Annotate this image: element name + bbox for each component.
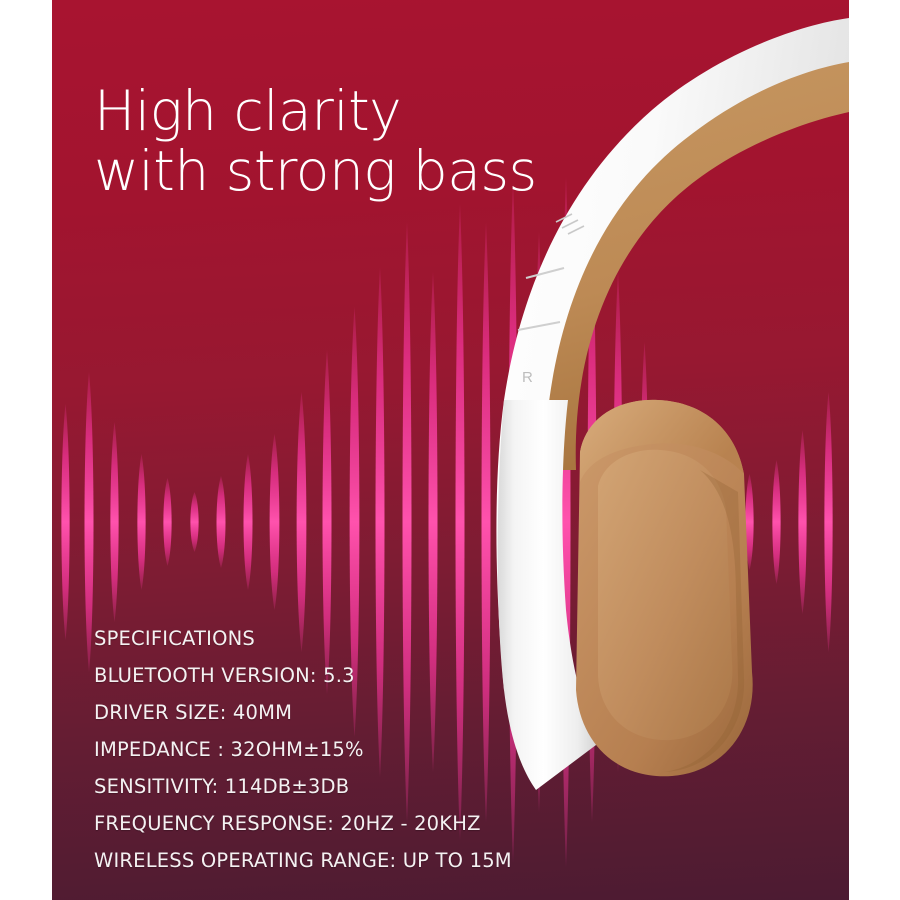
waveform-bar	[85, 372, 94, 672]
waveform-bar	[61, 404, 69, 640]
waveform-bar	[350, 307, 360, 737]
waveform-bar	[456, 204, 465, 840]
waveform-bar	[482, 222, 491, 822]
waveform-bar	[323, 350, 332, 694]
waveform-bar	[429, 272, 438, 772]
waveform-bar	[509, 182, 518, 862]
waveform-bar	[110, 422, 118, 622]
waveform-bar	[798, 430, 806, 614]
waveform-bar	[244, 454, 253, 590]
waveform-bar	[745, 474, 753, 570]
waveform-bar	[772, 460, 780, 584]
waveform-bar	[270, 434, 280, 610]
waveform-bar	[217, 476, 226, 568]
waveform-bar	[719, 460, 727, 584]
waveform-bar	[137, 454, 145, 590]
waveform-bar	[666, 402, 674, 642]
waveform-bar	[190, 492, 198, 552]
waveform-bar	[614, 272, 623, 772]
waveform-bar	[297, 392, 307, 652]
gradient-panel: High clarity with strong bass	[52, 0, 849, 900]
waveform-bar	[693, 437, 701, 607]
waveform-bar	[824, 392, 832, 652]
waveform-bar	[403, 222, 412, 822]
waveform-bar	[376, 267, 385, 777]
headline-text: High clarity with strong bass	[94, 81, 537, 201]
waveform-bar	[535, 232, 544, 812]
waveform-bar	[562, 177, 571, 867]
product-banner: High clarity with strong bass	[0, 0, 900, 900]
waveform-bar	[588, 222, 597, 822]
waveform-bar	[640, 342, 648, 702]
waveform-bar	[163, 478, 171, 566]
